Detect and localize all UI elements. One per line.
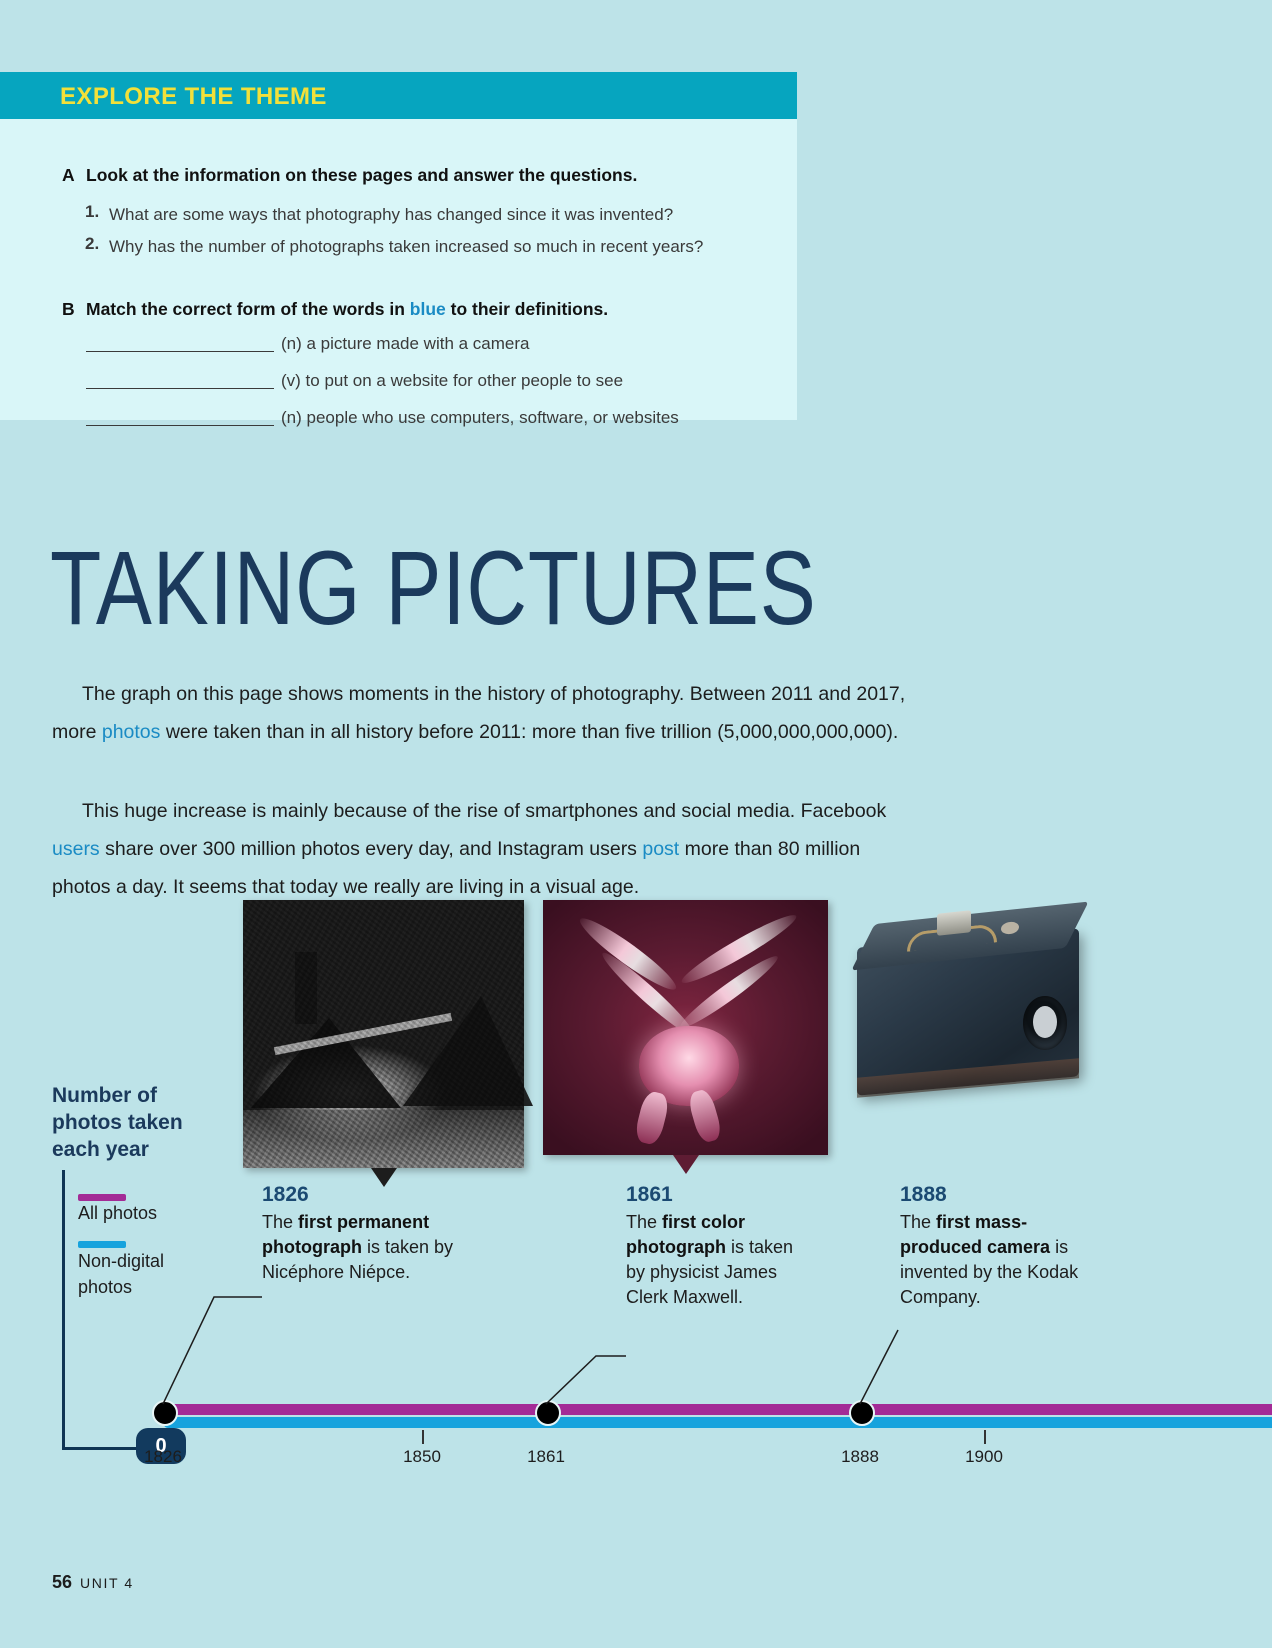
- explore-theme-header: EXPLORE THE THEME: [0, 72, 797, 119]
- question-2-text: Why has the number of photographs taken …: [109, 234, 769, 259]
- chart-marker-1826[interactable]: [152, 1400, 178, 1426]
- para2-part-b: share over 300 million photos every day,…: [100, 838, 643, 860]
- camera-lens-inner: [1033, 1006, 1057, 1038]
- chart-xlabel-1888: 1888: [841, 1447, 879, 1467]
- annotation-1826-pre: The: [262, 1212, 298, 1232]
- chart-annotation-1861: 1861 The first color photograph is taken…: [626, 1182, 806, 1310]
- definition-row-3[interactable]: (n) people who use computers, software, …: [86, 408, 679, 428]
- definition-row-1[interactable]: (n) a picture made with a camera: [86, 334, 530, 354]
- leader-line-1888: [860, 1330, 898, 1404]
- para2-keyword-users: users: [52, 838, 100, 860]
- chart-tick-1900: [984, 1430, 986, 1444]
- question-1-number: 1.: [85, 202, 99, 222]
- page-title: TAKING PICTURES: [50, 536, 817, 641]
- definition-text-2: (v) to put on a website for other people…: [281, 371, 623, 390]
- chart-marker-1861[interactable]: [535, 1400, 561, 1426]
- question-1-text: What are some ways that photography has …: [109, 202, 769, 227]
- photo-heliograph-1826: [243, 900, 524, 1168]
- chart-xlabel-1900: 1900: [965, 1447, 1003, 1467]
- photo-kodak-camera-1888: [851, 900, 1095, 1146]
- annotation-year-1888: 1888: [900, 1182, 1090, 1207]
- intro-paragraph-2: This huge increase is mainly because of …: [52, 792, 912, 906]
- chart-annotation-1888: 1888 The first mass-produced camera is i…: [900, 1182, 1090, 1310]
- para1-part-b: were taken than in all history before 20…: [160, 721, 898, 743]
- page-number: 56: [52, 1572, 72, 1592]
- annotation-1861-pre: The: [626, 1212, 662, 1232]
- leader-line-1826: [163, 1297, 262, 1404]
- chart-tick-1850: [422, 1430, 424, 1444]
- definition-row-2[interactable]: (v) to put on a website for other people…: [86, 371, 623, 391]
- ribbon-tail-1: [633, 1090, 671, 1147]
- exercise-letter-a: A: [62, 165, 75, 186]
- legend-swatch-non-digital: [78, 1241, 126, 1248]
- exercise-b-heading-pre: Match the correct form of the words in: [86, 299, 410, 319]
- exercise-letter-b: B: [62, 299, 75, 320]
- explore-theme-title: EXPLORE THE THEME: [60, 83, 327, 111]
- chart-xlabel-1850: 1850: [403, 1447, 441, 1467]
- page-footer: 56UNIT 4: [52, 1572, 134, 1593]
- definition-text-1: (n) a picture made with a camera: [281, 334, 530, 353]
- chart-xlabel-1861: 1861: [527, 1447, 565, 1467]
- definition-text-3: (n) people who use computers, software, …: [281, 408, 679, 427]
- chart-y-axis-line: [62, 1170, 65, 1450]
- chart-xlabel-1826: 1826: [144, 1447, 182, 1467]
- chart-marker-1888[interactable]: [849, 1400, 875, 1426]
- exercise-a-heading: Look at the information on these pages a…: [86, 165, 637, 186]
- chart-y-axis-arrow-shaft: [62, 1447, 140, 1450]
- chart-y-axis-title: Number of photos taken each year: [52, 1082, 222, 1163]
- legend-label-all-photos: All photos: [78, 1203, 157, 1224]
- exercise-b-heading-blue: blue: [410, 299, 446, 319]
- photo-grain-texture: [243, 900, 524, 1168]
- legend-swatch-all-photos: [78, 1194, 126, 1201]
- para1-keyword-photos: photos: [102, 721, 161, 743]
- photo-pointer-triangle: [673, 1155, 699, 1174]
- chart-series-all-photos-line: [163, 1404, 1272, 1415]
- photo-tartan-ribbon-1861: [543, 900, 828, 1155]
- question-2-number: 2.: [85, 234, 99, 254]
- exercise-b-heading: Match the correct form of the words in b…: [86, 299, 608, 320]
- chart-series-non-digital-line: [163, 1417, 1272, 1428]
- exercise-b-heading-post: to their definitions.: [446, 299, 608, 319]
- annotation-year-1826: 1826: [262, 1182, 507, 1207]
- answer-blank-2[interactable]: [86, 374, 274, 389]
- answer-blank-1[interactable]: [86, 337, 274, 352]
- chart-annotation-1826: 1826 The first permanent photograph is t…: [262, 1182, 507, 1285]
- explore-the-theme-box: EXPLORE THE THEME A Look at the informat…: [0, 72, 797, 420]
- para2-keyword-post: post: [642, 838, 679, 860]
- answer-blank-3[interactable]: [86, 411, 274, 426]
- annotation-year-1861: 1861: [626, 1182, 806, 1207]
- unit-label: UNIT 4: [80, 1575, 134, 1591]
- camera-latch: [937, 910, 971, 936]
- intro-paragraph-1: The graph on this page shows moments in …: [52, 675, 912, 751]
- legend-label-non-digital: Non-digital photos: [78, 1248, 208, 1300]
- annotation-1888-pre: The: [900, 1212, 936, 1232]
- para2-part-a: This huge increase is mainly because of …: [82, 800, 886, 822]
- leader-line-1861: [546, 1356, 626, 1404]
